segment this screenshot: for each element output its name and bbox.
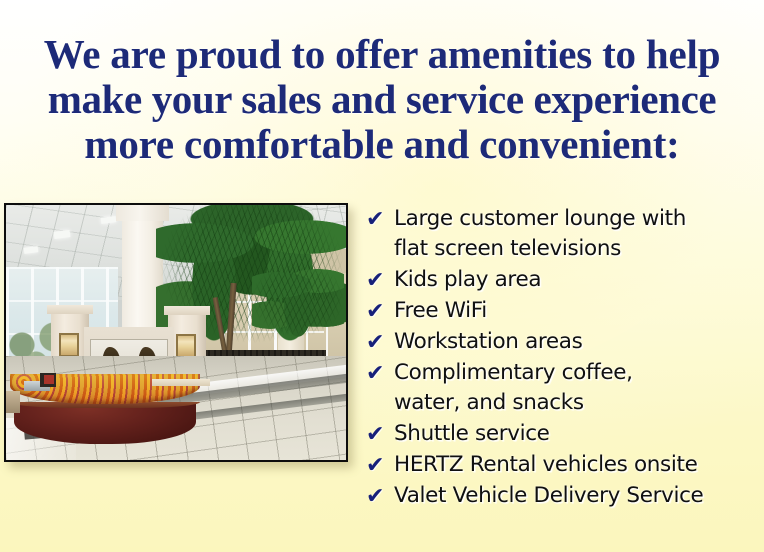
list-item: ✔ Free WiFi	[366, 296, 764, 326]
palm-frond-texture	[252, 261, 344, 341]
amenities-list: ✔ Large customer lounge with flat screen…	[366, 204, 764, 512]
list-item: ✔ Workstation areas	[366, 327, 764, 357]
checkmark-icon: ✔	[366, 358, 385, 388]
checkmark-icon: ✔	[366, 419, 385, 449]
reception-desk-base	[14, 404, 196, 444]
page-title-line-3: more comfortable and convenient:	[6, 122, 758, 167]
list-item: ✔ Valet Vehicle Delivery Service	[366, 481, 764, 511]
list-item-label: Valet Vehicle Delivery Service	[394, 481, 703, 511]
wall-sconce-left	[59, 333, 79, 357]
list-item-label: Free WiFi	[394, 296, 487, 326]
checkmark-icon: ✔	[366, 481, 385, 511]
list-item: ✔ HERTZ Rental vehicles onsite	[366, 450, 764, 480]
checkmark-icon: ✔	[366, 265, 385, 295]
list-item-label: Kids play area	[394, 265, 541, 295]
lobby-chair	[6, 391, 20, 413]
page-title-line-1: We are proud to offer amenities to help	[6, 32, 758, 77]
slide-canvas: We are proud to offer amenities to help …	[0, 0, 764, 552]
page-title: We are proud to offer amenities to help …	[0, 32, 764, 167]
wall-sconce-right	[176, 334, 196, 358]
list-item: ✔ Shuttle service	[366, 419, 764, 449]
list-item: ✔ Complimentary coffee, water, and snack…	[366, 358, 764, 418]
foreground-accent	[44, 375, 54, 384]
checkmark-icon: ✔	[366, 296, 385, 326]
checkmark-icon: ✔	[366, 204, 385, 234]
counter-ledge	[152, 379, 210, 386]
checkmark-icon: ✔	[366, 327, 385, 357]
page-title-line-2: make your sales and service experience	[6, 77, 758, 122]
lobby-photo	[4, 203, 348, 462]
checkmark-icon: ✔	[366, 450, 385, 480]
list-item-label: Shuttle service	[394, 419, 550, 449]
pillar-cap-right	[164, 306, 210, 315]
pillar-cap-left	[47, 305, 93, 314]
list-item: ✔ Kids play area	[366, 265, 764, 295]
list-item-label: Large customer lounge with flat screen t…	[394, 204, 686, 264]
list-item-label: HERTZ Rental vehicles onsite	[394, 450, 697, 480]
list-item-label: Complimentary coffee, water, and snacks	[394, 358, 633, 418]
list-item: ✔ Large customer lounge with flat screen…	[366, 204, 764, 264]
list-item-label: Workstation areas	[394, 327, 582, 357]
